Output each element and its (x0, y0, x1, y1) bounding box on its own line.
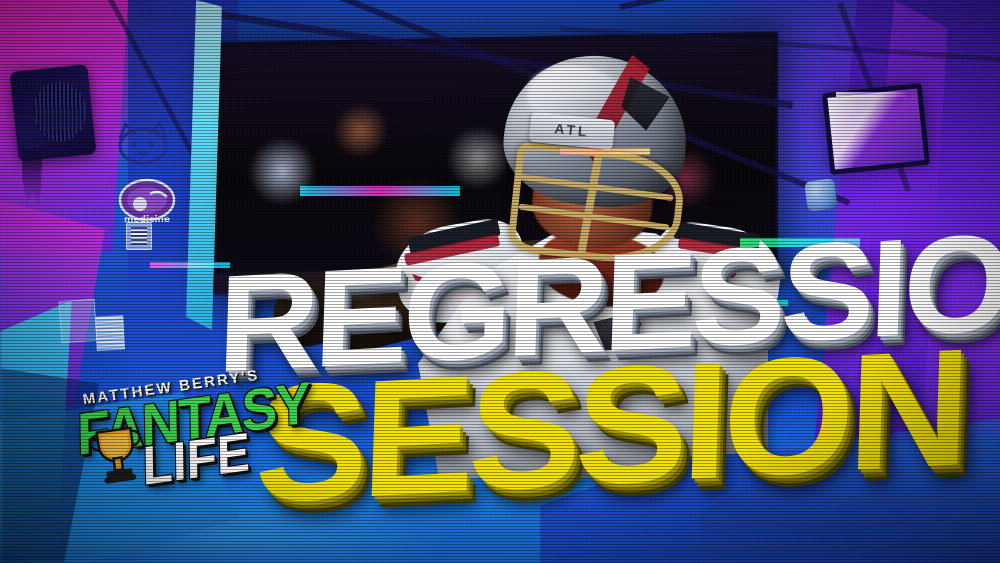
glitch-bar (560, 148, 650, 155)
medicine-circle-sticker: medicine (116, 178, 178, 226)
glitch-bar (452, 292, 522, 300)
speaker-box (10, 64, 97, 162)
glitch-bar (740, 238, 860, 247)
glitch-bar (150, 262, 230, 268)
logo-word-life: LIFE (142, 424, 250, 493)
football-player: ATL (300, 38, 770, 468)
glitch-bar (836, 92, 906, 97)
thumbnail-canvas: medicine ATL (0, 0, 1000, 563)
glitch-bar (300, 186, 460, 196)
wall-monitor-mount (804, 178, 838, 212)
fantasy-life-logo: MATTHEW BERRY'S FANTASY LIFE (70, 378, 270, 490)
glitch-bar (688, 300, 788, 306)
wall-monitor-screen (827, 88, 924, 169)
cat-face-sticker (112, 119, 175, 168)
square-barcode-sticker (126, 222, 152, 250)
trophy-icon (82, 422, 151, 488)
locker-label-sticker (95, 315, 125, 350)
locker-tag-sticker (59, 299, 98, 343)
